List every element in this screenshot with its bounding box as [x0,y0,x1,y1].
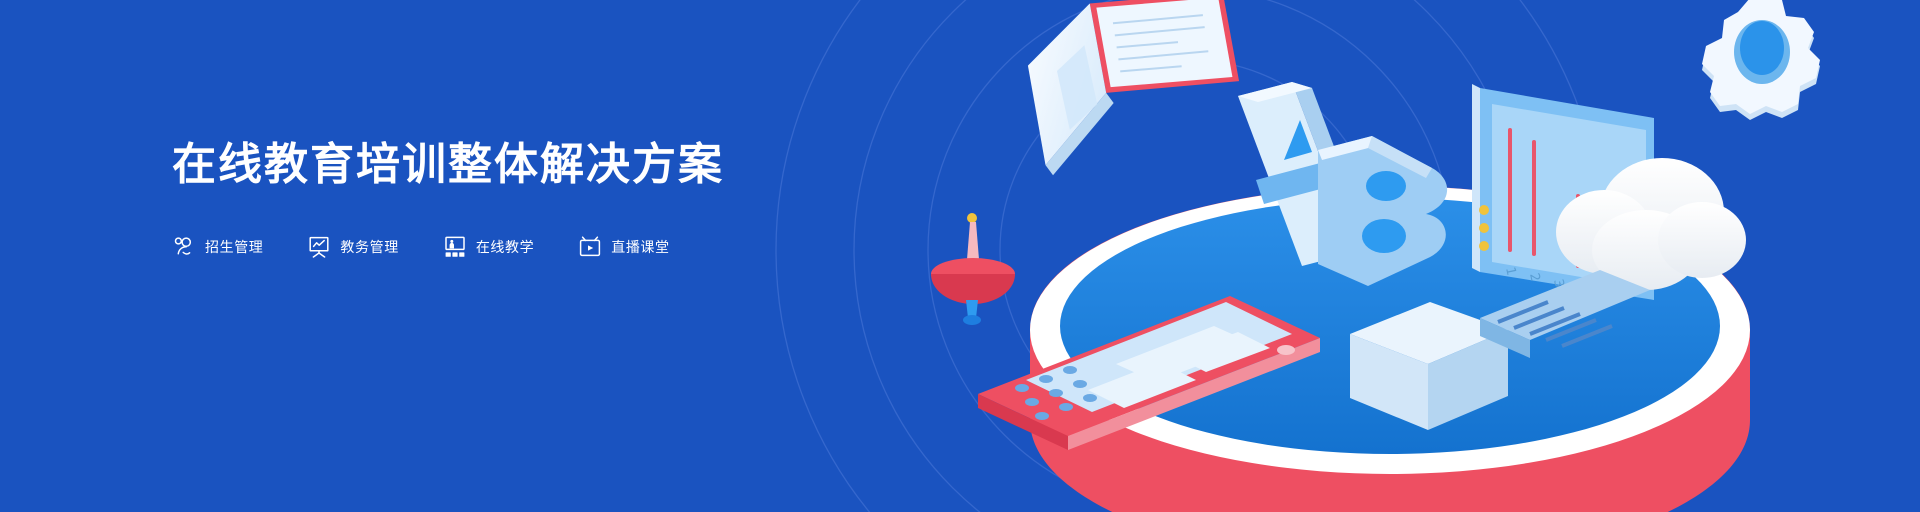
gear-3d-object [1702,0,1820,120]
feature-label-live-classroom: 直播课堂 [611,237,669,257]
feature-list: 招生管理 教务管理 [172,235,932,259]
feature-item-online-teaching[interactable]: 在线教学 [443,235,534,259]
feature-item-academic-affairs[interactable]: 教务管理 [307,235,398,259]
tv-play-icon [578,235,602,259]
hero-text-block: 在线教育培训整体解决方案 招生管理 [172,140,932,259]
feature-label-enrollment: 招生管理 [205,237,263,257]
feature-label-academic-affairs: 教务管理 [340,237,398,257]
education-hero-banner: 1 2 3 4 5 [0,0,1920,512]
online-education-illustration: 1 2 3 4 5 [920,0,1920,512]
feature-item-enrollment[interactable]: 招生管理 [172,235,263,259]
users-icon [172,235,196,259]
easel-chart-icon [307,235,331,259]
feature-item-live-classroom[interactable]: 直播课堂 [578,235,669,259]
open-book-object [1002,0,1260,177]
classroom-teaching-icon [443,235,467,259]
page-title: 在线教育培训整体解决方案 [172,140,932,191]
feature-label-online-teaching: 在线教学 [476,237,534,257]
spinning-top-object [931,213,1015,325]
